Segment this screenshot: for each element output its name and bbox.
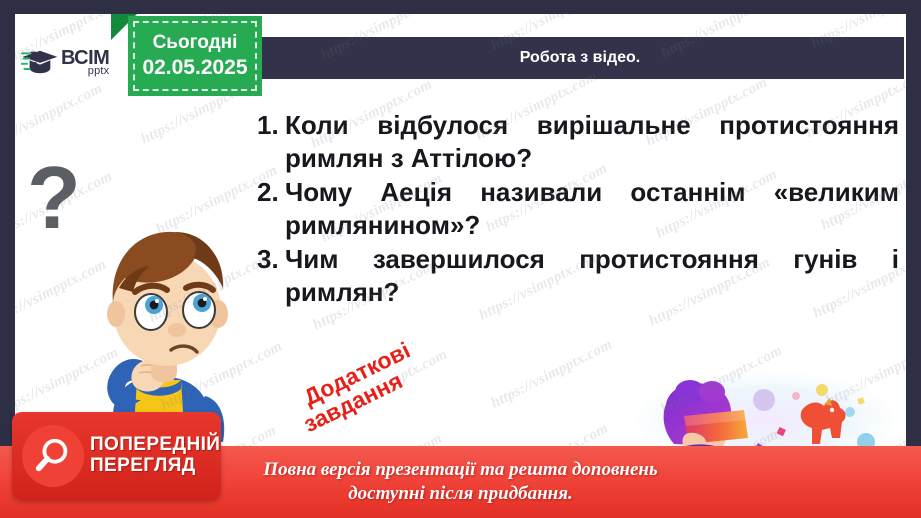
graduation-cap-icon bbox=[21, 45, 59, 79]
brand-logo: ВСІМ pptx bbox=[15, 34, 127, 90]
banner-line-2: доступні після придбання. bbox=[348, 482, 572, 506]
watermark: https://vsimpptx.com bbox=[488, 337, 615, 413]
preview-badge-line-1: ПОПЕРЕДНІЙ bbox=[90, 435, 220, 456]
page-title: Робота з відео. bbox=[520, 49, 640, 67]
slide-frame: ВСІМ pptx Сьогодні 02.05.2025 Робота з в… bbox=[0, 0, 921, 518]
banner-line-1: Повна версія презентації та решта доповн… bbox=[263, 458, 657, 482]
list-item: 1. Коли відбулося вирішальне протистоянн… bbox=[243, 109, 903, 174]
date-badge-label: Сьогодні bbox=[153, 32, 238, 54]
question-number: 1. bbox=[243, 109, 285, 141]
watermark: https://vsimpptx.com bbox=[15, 81, 105, 157]
question-mark-icon: ? bbox=[27, 154, 81, 242]
date-badge-value: 02.05.2025 bbox=[142, 56, 247, 80]
slide-title-bar: Робота з відео. bbox=[256, 37, 904, 79]
preview-badge[interactable]: ПОПЕРЕДНІЙ ПЕРЕГЛЯД bbox=[12, 412, 221, 500]
list-item: 2. Чому Аеція називали останнім «великим… bbox=[243, 176, 903, 241]
magnifier-icon bbox=[22, 425, 84, 487]
list-item: 3. Чим завершилося протистояння гунів і … bbox=[243, 243, 903, 308]
question-number: 2. bbox=[243, 176, 285, 208]
question-text: Чим завершилося протистояння гунів і рим… bbox=[285, 243, 903, 308]
question-text: Коли відбулося вирішальне протистояння р… bbox=[285, 109, 903, 174]
preview-badge-line-2: ПЕРЕГЛЯД bbox=[90, 456, 220, 477]
question-text: Чому Аеція називали останнім «великим ри… bbox=[285, 176, 903, 241]
today-date-badge: Сьогодні 02.05.2025 bbox=[128, 16, 262, 96]
question-list: 1. Коли відбулося вирішальне протистоянн… bbox=[243, 109, 903, 310]
question-number: 3. bbox=[243, 243, 285, 275]
